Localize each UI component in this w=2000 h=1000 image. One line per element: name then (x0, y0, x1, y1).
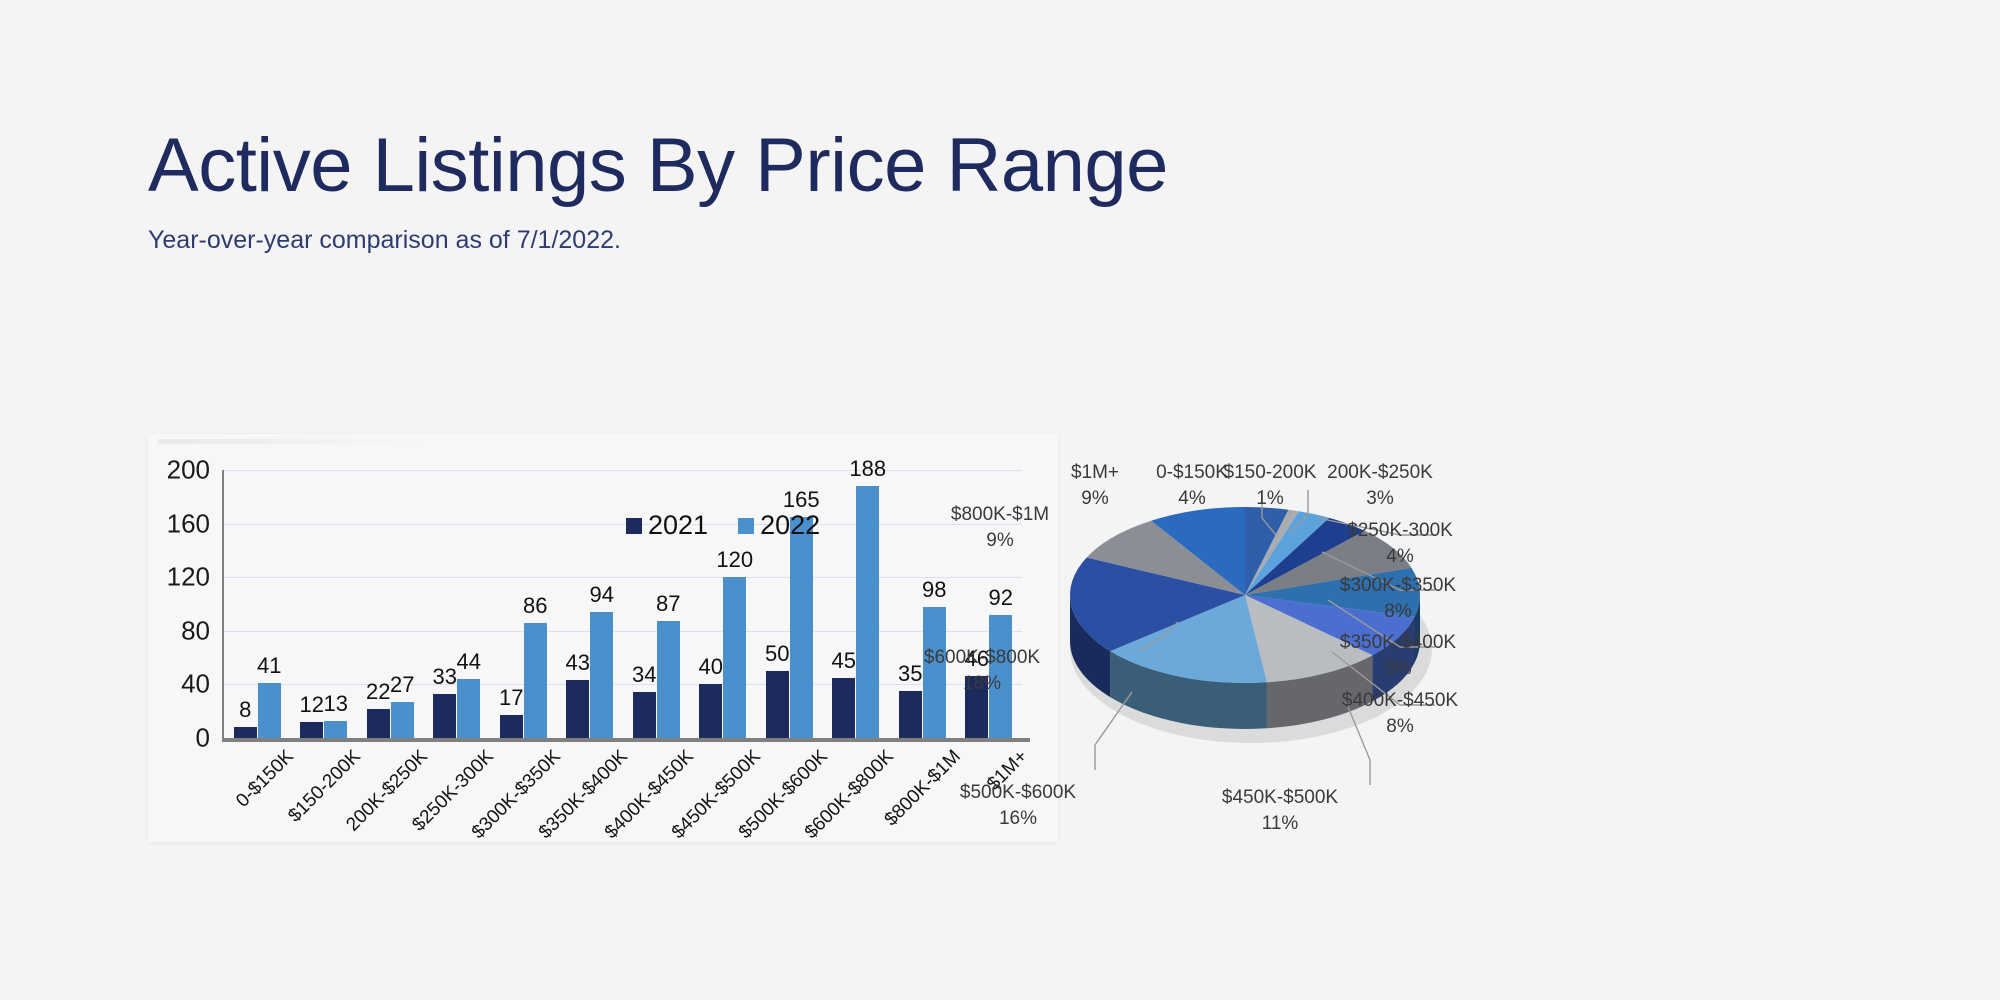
page-subtitle: Year-over-year comparison as of 7/1/2022… (148, 226, 1168, 255)
bar-2022[interactable]: 44 (457, 679, 480, 738)
legend-swatch-2022 (738, 518, 754, 534)
bar-2021[interactable]: 50 (766, 671, 789, 738)
pie-label-name: $450K-$500K (1222, 787, 1338, 808)
pie-label-value: 9% (951, 528, 1049, 554)
pie-label-$400K-$450K: $400K-$450K8% (1342, 688, 1458, 739)
pie-label-name: $350K-$400K (1340, 632, 1456, 653)
bar-group: 45188 (823, 470, 890, 738)
y-axis-tick: 40 (181, 669, 210, 700)
header: Active Listings By Price Range Year-over… (148, 128, 1168, 255)
slide-canvas: Active Listings By Price Range Year-over… (0, 0, 2000, 1000)
y-axis-tick: 200 (167, 455, 210, 486)
pie-label-$800K-$1M: $800K-$1M9% (951, 502, 1049, 553)
bar-2021[interactable]: 45 (832, 678, 855, 738)
bar-2022[interactable]: 27 (391, 702, 414, 738)
pie-label-name: $150-200K (1224, 462, 1317, 483)
bar-value-label: 94 (590, 582, 614, 608)
legend-item-2022[interactable]: 2022 (738, 510, 820, 541)
page-title: Active Listings By Price Range (148, 128, 1168, 204)
bar-2021[interactable]: 22 (367, 709, 390, 738)
pie-label-$600K-$800K: $600K-$800K18% (924, 645, 1040, 696)
bar-value-label: 17 (499, 685, 523, 711)
bar-value-label: 45 (832, 648, 856, 674)
bar-2021[interactable]: 33 (433, 694, 456, 738)
bar-2022[interactable]: 120 (723, 577, 746, 738)
pie-label-$450K-$500K: $450K-$500K11% (1222, 785, 1338, 836)
legend-label-2022: 2022 (760, 510, 820, 541)
bar-value-label: 86 (523, 593, 547, 619)
bar-group: 1786 (490, 470, 557, 738)
pie-label-value: 9% (1340, 656, 1456, 682)
bar-group: 3598 (889, 470, 956, 738)
pie-label-value: 8% (1342, 714, 1458, 740)
bar-value-label: 44 (457, 649, 481, 675)
legend-label-2021: 2021 (648, 510, 708, 541)
bar-value-label: 22 (366, 679, 390, 705)
bar-2021[interactable]: 12 (300, 722, 323, 738)
bar-value-label: 120 (716, 547, 753, 573)
legend-swatch-2021 (626, 518, 642, 534)
bar-value-label: 8 (239, 697, 251, 723)
bar-2022[interactable]: 87 (657, 621, 680, 738)
bar-2021[interactable]: 43 (566, 680, 589, 738)
pie-label-$150-200K: $150-200K1% (1224, 460, 1317, 511)
bar-chart-panel: 04080120160200 8411213222733441786439434… (148, 434, 1058, 842)
bar-value-label: 87 (656, 591, 680, 617)
pie-label-name: $1M+ (1071, 462, 1119, 483)
bar-2021[interactable]: 40 (699, 684, 722, 738)
pie-label-$300K-$350K: $300K-$350K8% (1340, 573, 1456, 624)
bar-2021[interactable]: 8 (234, 727, 257, 738)
bar-value-label: 165 (783, 487, 820, 513)
bar-value-label: 98 (922, 577, 946, 603)
bar-group: 3344 (424, 470, 491, 738)
pie-label-value: 16% (960, 806, 1076, 832)
pie-label-200K-$250K: 200K-$250K3% (1327, 460, 1433, 511)
bar-value-label: 50 (765, 641, 789, 667)
bar-groups: 8411213222733441786439434874012050165451… (224, 470, 1022, 738)
bar-value-label: 33 (433, 664, 457, 690)
pie-label-$250K-300K: $250K-300K4% (1347, 518, 1453, 569)
pie-label-value: 1% (1224, 486, 1317, 512)
pie-label-value: 4% (1347, 544, 1453, 570)
pie-label-name: $300K-$350K (1340, 575, 1456, 596)
pie-label-0-$150K: 0-$150K4% (1156, 460, 1228, 511)
bar-group: 2227 (357, 470, 424, 738)
bar-2022[interactable]: 41 (258, 683, 281, 738)
y-axis-tick: 160 (167, 508, 210, 539)
bar-2022[interactable]: 94 (590, 612, 613, 738)
pie-label-value: 9% (1071, 486, 1119, 512)
bar-value-label: 92 (989, 585, 1013, 611)
bar-chart-legend: 2021 2022 (626, 510, 820, 541)
pie-label-value: 18% (924, 671, 1040, 697)
bar-group: 841 (224, 470, 291, 738)
bar-2021[interactable]: 17 (500, 715, 523, 738)
legend-item-2021[interactable]: 2021 (626, 510, 708, 541)
bar-value-label: 43 (566, 650, 590, 676)
bar-value-label: 13 (324, 691, 348, 717)
bar-value-label: 27 (390, 672, 414, 698)
bar-value-label: 34 (632, 662, 656, 688)
pie-label-name: $600K-$800K (924, 647, 1040, 668)
panel-top-strip (158, 439, 428, 444)
bar-2022[interactable]: 86 (524, 623, 547, 738)
bar-value-label: 35 (898, 661, 922, 687)
bar-value-label: 12 (300, 692, 324, 718)
bar-2021[interactable]: 35 (899, 691, 922, 738)
bar-2022[interactable]: 13 (324, 721, 347, 738)
bar-value-label: 41 (257, 653, 281, 679)
bar-2021[interactable]: 34 (633, 692, 656, 738)
bar-value-label: 188 (849, 456, 886, 482)
y-axis-tick: 80 (181, 615, 210, 646)
pie-label-value: 8% (1340, 599, 1456, 625)
pie-label-name: $800K-$1M (951, 504, 1049, 525)
pie-label-name: $250K-300K (1347, 520, 1453, 541)
x-axis-label: 0-$150K (233, 746, 299, 812)
bar-group: 1213 (291, 470, 358, 738)
pie-label-name: 200K-$250K (1327, 462, 1433, 483)
pie-label-value: 11% (1222, 811, 1338, 837)
pie-label-$500K-$600K: $500K-$600K16% (960, 780, 1076, 831)
bar-group: 4394 (557, 470, 624, 738)
y-axis-tick: 120 (167, 562, 210, 593)
pie-label-name: 0-$150K (1156, 462, 1228, 483)
y-axis-tick: 0 (196, 723, 210, 754)
x-axis-line (222, 738, 1030, 742)
pie-label-name: $400K-$450K (1342, 690, 1458, 711)
pie-label-value: 4% (1156, 486, 1228, 512)
x-axis-category-labels: 0-$150K$150-200K200K-$250K$250K-300K$300… (224, 746, 1024, 866)
pie-label-value: 3% (1327, 486, 1433, 512)
bar-2022[interactable]: 165 (790, 517, 813, 738)
pie-label-$1M+: $1M+9% (1071, 460, 1119, 511)
bar-chart-plot-area: 04080120160200 8411213222733441786439434… (222, 470, 1022, 738)
pie-label-$350K-$400K: $350K-$400K9% (1340, 630, 1456, 681)
pie-chart-area: 0-$150K4%$150-200K1%200K-$250K3%$250K-30… (1070, 440, 1950, 860)
bar-value-label: 40 (699, 654, 723, 680)
bar-2022[interactable]: 188 (856, 486, 879, 738)
pie-label-name: $500K-$600K (960, 782, 1076, 803)
